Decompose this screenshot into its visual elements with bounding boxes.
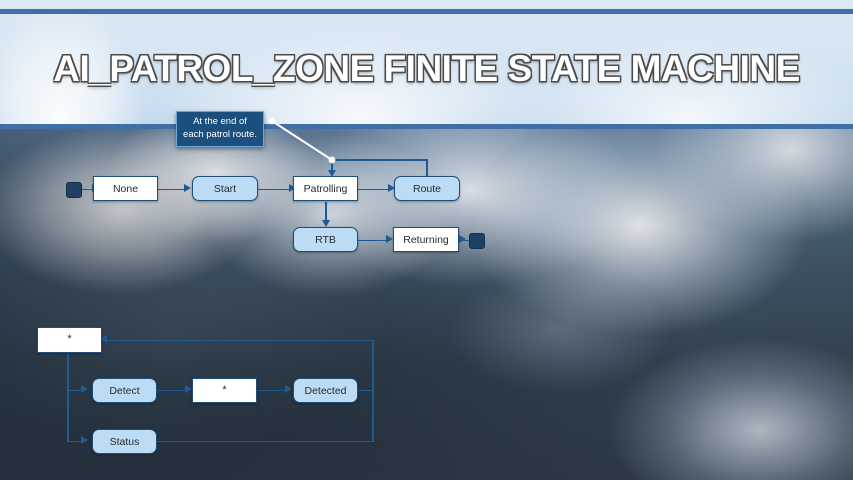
edge-anymid-detected	[257, 390, 287, 392]
node-status-label: Status	[110, 436, 140, 448]
callout-note[interactable]: At the end of each patrol route.	[176, 111, 264, 147]
edge-return-across	[103, 340, 374, 342]
node-start[interactable]: Start	[192, 176, 258, 201]
callout-line-1: At the end of	[183, 116, 257, 129]
arrowhead-rtb-in	[322, 220, 330, 227]
edge-status-return-up	[372, 390, 374, 441]
node-none-label: None	[113, 183, 138, 195]
node-none[interactable]: None	[93, 176, 158, 201]
arrowhead-returning-in	[386, 235, 393, 243]
edge-detect-anymid	[156, 390, 187, 392]
arrowhead-status-in	[81, 436, 88, 444]
node-detect-label: Detect	[109, 385, 139, 397]
node-detected-label: Detected	[304, 385, 346, 397]
node-start-label: Start	[214, 183, 236, 195]
arrowhead-start-in	[184, 184, 191, 192]
edge-none-start	[158, 189, 187, 191]
node-any-state[interactable]: *	[37, 327, 102, 353]
node-status[interactable]: Status	[92, 429, 157, 454]
node-detected[interactable]: Detected	[293, 378, 358, 403]
arrowhead-endmarker-in	[459, 235, 466, 243]
node-patrolling[interactable]: Patrolling	[293, 176, 358, 201]
node-returning-label: Returning	[403, 234, 449, 246]
node-any-mid[interactable]: *	[192, 378, 257, 403]
edge-patrolling-route	[358, 189, 392, 191]
edge-status-return-right	[156, 441, 374, 443]
node-patrolling-label: Patrolling	[304, 183, 348, 195]
edge-patrolling-rtb	[325, 202, 327, 222]
edge-anystate-trunk	[67, 353, 69, 442]
node-detect[interactable]: Detect	[92, 378, 157, 403]
arrowhead-detected-in	[285, 385, 292, 393]
node-route-label: Route	[413, 183, 441, 195]
arrowhead-anymid-in	[185, 385, 192, 393]
node-rtb[interactable]: RTB	[293, 227, 358, 252]
edge-detected-return-up	[372, 340, 374, 390]
node-route[interactable]: Route	[394, 176, 460, 201]
state-machine-diagram: None Start Patrolling Route RTB Returnin…	[0, 0, 853, 480]
callout-line-2: each patrol route.	[183, 129, 257, 142]
node-any-mid-label: *	[222, 384, 226, 396]
node-returning[interactable]: Returning	[393, 227, 459, 252]
node-rtb-label: RTB	[315, 234, 336, 246]
slide-canvas: AI_PATROL_ZONE FINITE STATE MACHINE None	[0, 0, 853, 480]
node-end-marker[interactable]	[469, 233, 485, 249]
node-start-marker[interactable]	[66, 182, 82, 198]
node-any-state-label: *	[67, 333, 71, 345]
arrowhead-detect-in	[81, 385, 88, 393]
edge-route-loop-across	[331, 159, 428, 161]
edge-rtb-returning	[357, 240, 389, 242]
